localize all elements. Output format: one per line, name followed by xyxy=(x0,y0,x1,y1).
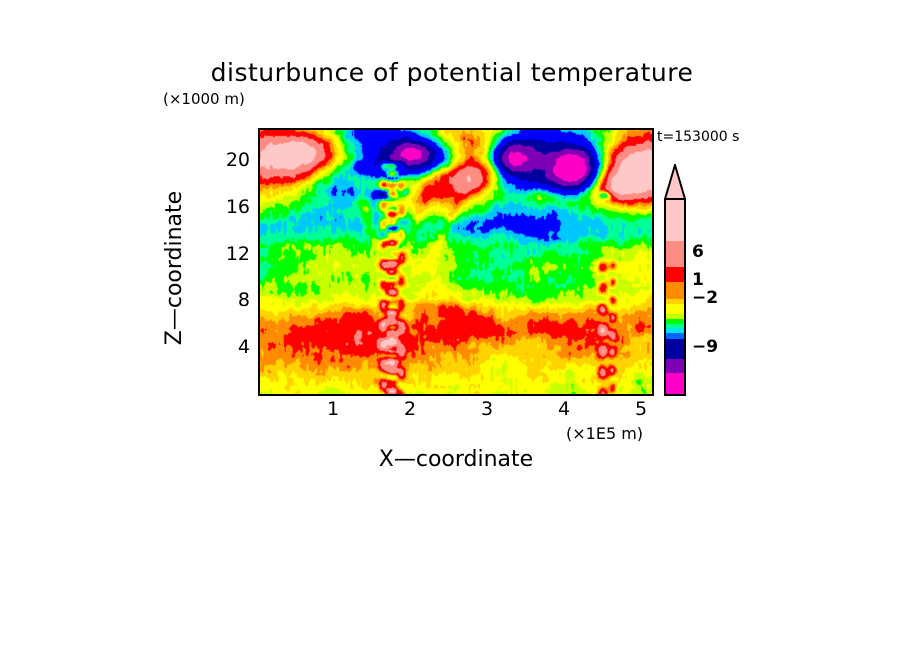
colorbar-label-n9: −9 xyxy=(692,337,718,357)
x-axis-title: X—coordinate xyxy=(258,447,654,472)
y-tick-12: 12 xyxy=(204,243,250,265)
y-axis-title: Z—coordinate xyxy=(162,140,192,396)
timestamp-label: t=153000 s xyxy=(657,129,739,145)
colorbar-label-6: 6 xyxy=(692,242,704,262)
contour-field xyxy=(260,130,652,394)
contour-figure: disturbunce of potential temperature (×1… xyxy=(0,0,904,654)
x-tick-4: 4 xyxy=(544,398,584,420)
colorbar xyxy=(664,164,686,396)
x-tick-2: 2 xyxy=(390,398,430,420)
band-n6-to-n4 xyxy=(666,339,684,359)
y-tick-20: 20 xyxy=(204,149,250,171)
band-6-to-9 xyxy=(666,267,684,283)
x-tick-1: 1 xyxy=(313,398,353,420)
y-tick-8: 8 xyxy=(204,289,250,311)
band-above-12 xyxy=(666,200,684,241)
colorbar-extend-arrow-icon xyxy=(664,164,686,200)
colorbar-label-n2: −2 xyxy=(692,288,718,308)
colorbar-gradient xyxy=(664,198,686,396)
z-axis-unit-label: (×1000 m) xyxy=(163,90,245,108)
plot-area xyxy=(258,128,654,396)
x-axis-unit-label: (×1E5 m) xyxy=(566,424,643,443)
x-tick-3: 3 xyxy=(467,398,507,420)
band-9-to-12 xyxy=(666,241,684,267)
colorbar-label-1: 1 xyxy=(692,270,704,290)
y-tick-4: 4 xyxy=(204,336,250,358)
y-tick-16: 16 xyxy=(204,196,250,218)
x-tick-5: 5 xyxy=(621,398,661,420)
band-4-to-6 xyxy=(666,282,684,298)
band-n9-to-n6 xyxy=(666,359,684,374)
page-title: disturbunce of potential temperature xyxy=(0,58,904,87)
band-below-n9 xyxy=(666,373,684,394)
